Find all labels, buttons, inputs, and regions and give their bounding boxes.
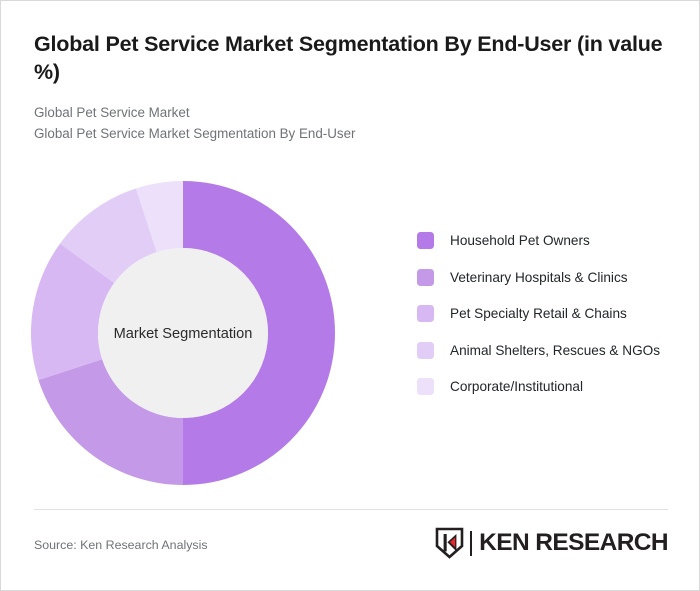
legend-label: Animal Shelters, Rescues & NGOs [450, 341, 660, 360]
legend-item[interactable]: Animal Shelters, Rescues & NGOs [417, 341, 675, 360]
legend-label: Household Pet Owners [450, 231, 590, 250]
brand-lockup: KEN RESEARCH [435, 527, 668, 559]
brand-divider [470, 531, 472, 556]
legend-swatch [417, 305, 434, 322]
legend-item[interactable]: Pet Specialty Retail & Chains [417, 304, 675, 323]
subtitle-line-2: Global Pet Service Market Segmentation B… [34, 123, 668, 144]
donut-center-label: Market Segmentation [114, 326, 253, 342]
subtitle-line-1: Global Pet Service Market [34, 102, 668, 123]
legend-swatch [417, 342, 434, 359]
chart-header: Global Pet Service Market Segmentation B… [34, 31, 668, 144]
subtitle-group: Global Pet Service Market Global Pet Ser… [34, 102, 668, 144]
legend-swatch [417, 269, 434, 286]
donut-chart-svg: Market Segmentation [31, 181, 335, 485]
chart-legend: Household Pet OwnersVeterinary Hospitals… [417, 231, 675, 414]
legend-label: Veterinary Hospitals & Clinics [450, 268, 628, 287]
legend-swatch [417, 378, 434, 395]
source-note: Source: Ken Research Analysis [34, 538, 208, 552]
legend-item[interactable]: Corporate/Institutional [417, 377, 675, 396]
page-title: Global Pet Service Market Segmentation B… [34, 31, 674, 87]
legend-label: Pet Specialty Retail & Chains [450, 304, 627, 323]
footer-divider [34, 509, 668, 510]
legend-item[interactable]: Veterinary Hospitals & Clinics [417, 268, 675, 287]
ken-research-shield-icon [435, 527, 464, 559]
legend-swatch [417, 232, 434, 249]
donut-chart: Market Segmentation [31, 181, 335, 485]
legend-label: Corporate/Institutional [450, 377, 583, 396]
chart-card: Global Pet Service Market Segmentation B… [0, 0, 700, 591]
brand-name: KEN RESEARCH [479, 531, 668, 556]
legend-item[interactable]: Household Pet Owners [417, 231, 675, 250]
